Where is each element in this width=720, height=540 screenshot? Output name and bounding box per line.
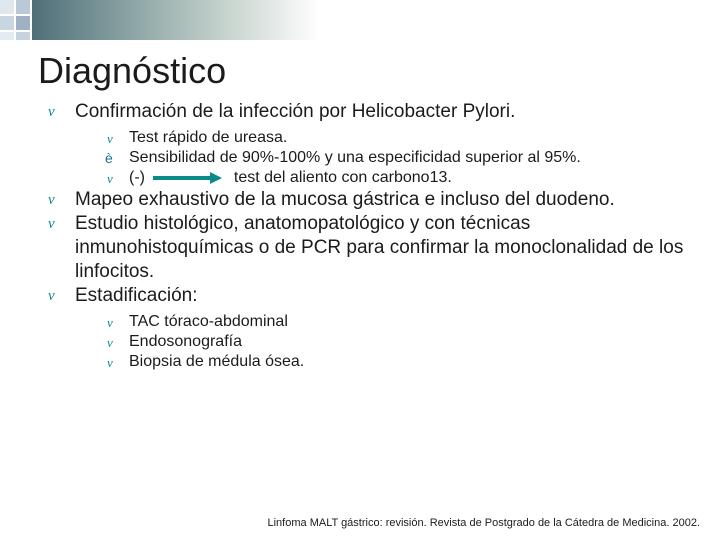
sub-bullet-item: v (-) test del aliento con carbono13. [105,168,700,188]
deco-square-5 [0,32,14,40]
sub-bullet-item: v TAC tóraco-abdominal [105,312,700,332]
sub-bullet-text: Endosonografía [129,333,242,350]
slide-footer-citation: Linfoma MALT gástrico: revisión. Revista… [0,517,714,529]
sub-bullet-list: v Test rápido de ureasa. è Sensibilidad … [75,128,700,188]
sub-bullet-text-after: test del aliento con carbono13. [234,169,452,186]
bullet-item: v Estadificación: v TAC tóraco-abdominal… [40,284,700,372]
arrow-bullet-icon: è [105,148,113,168]
slide-body: v Confirmación de la infección por Helic… [40,100,700,372]
deco-square-6 [16,32,30,40]
decorative-header-graphic [0,0,320,40]
bullet-text: Confirmación de la infección por Helicob… [75,101,515,122]
bullet-v-icon: v [48,212,55,236]
sub-bullet-text: TAC tóraco-abdominal [129,313,288,330]
bullet-item: v Mapeo exhaustivo de la mucosa gástrica… [40,188,700,212]
slide-title: Diagnóstico [38,50,226,92]
deco-square-3 [0,16,14,30]
bullet-v-icon: v [107,313,113,333]
bullet-v-icon: v [48,284,55,308]
bullet-v-icon: v [107,353,113,373]
sub-bullet-text: Biopsia de médula ósea. [129,353,304,370]
sub-bullet-text: Sensibilidad de 90%-100% y una especific… [129,149,581,166]
bullet-text: Mapeo exhaustivo de la mucosa gástrica e… [75,189,615,210]
sub-bullet-item: v Biopsia de médula ósea. [105,352,700,372]
bullet-item: v Confirmación de la infección por Helic… [40,100,700,188]
deco-square-2 [16,0,30,14]
sub-bullet-list: v TAC tóraco-abdominal v Endosonografía … [75,312,700,372]
bullet-v-icon: v [48,188,55,212]
sub-bullet-text-before: (-) [129,169,145,186]
sub-bullet-item: è Sensibilidad de 90%-100% y una especif… [105,148,700,168]
right-arrow-icon [153,173,225,183]
bullet-v-icon: v [107,129,113,149]
sub-bullet-text: Test rápido de ureasa. [129,129,287,146]
sub-bullet-item: v Endosonografía [105,332,700,352]
deco-gradient-band [32,0,320,40]
bullet-text: Estadificación: [75,285,198,306]
bullet-v-icon: v [107,169,113,189]
deco-square-4 [16,16,30,30]
bullet-text: Estudio histológico, anatomopatológico y… [75,213,683,282]
sub-bullet-item: v Test rápido de ureasa. [105,128,700,148]
bullet-v-icon: v [48,100,55,124]
deco-square-1 [0,0,14,14]
bullet-v-icon: v [107,333,113,353]
bullet-item: v Estudio histológico, anatomopatológico… [40,212,700,284]
